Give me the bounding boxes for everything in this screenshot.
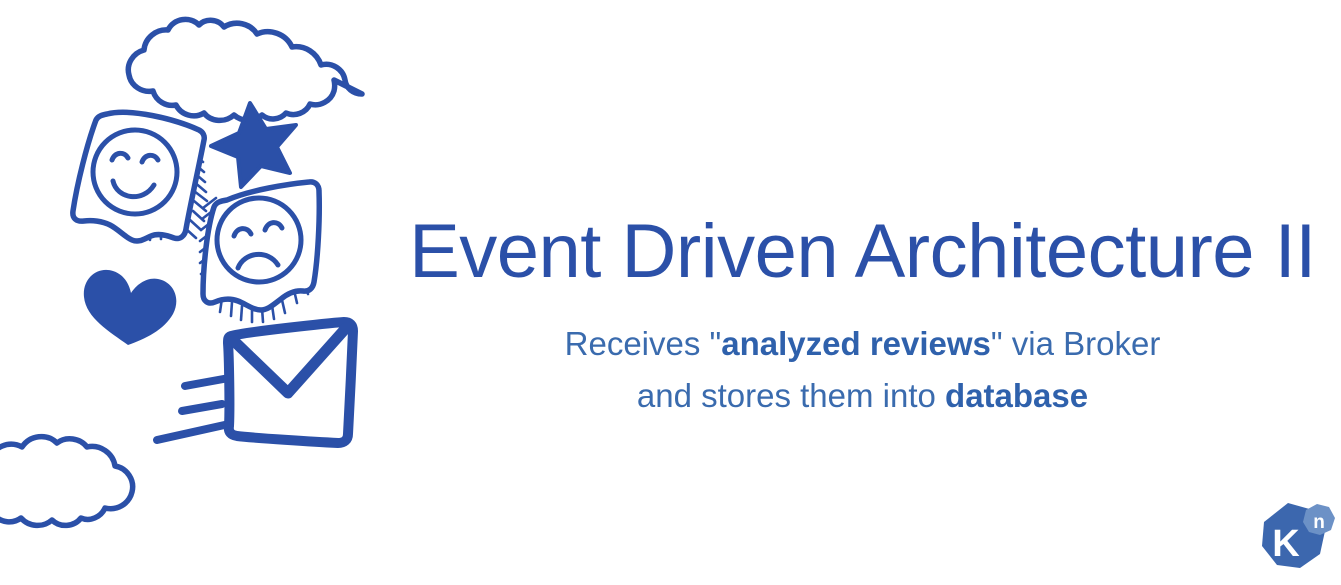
star-icon <box>211 103 296 187</box>
page-subtitle: Receives "analyzed reviews" via Broker a… <box>390 318 1335 422</box>
brand-logo: K n <box>1252 498 1338 578</box>
subtitle-line-2: and stores them into database <box>390 370 1335 422</box>
illustration-group <box>0 0 400 585</box>
slide-root: Event Driven Architecture II Receives "a… <box>0 0 1341 585</box>
sad-face-card-icon <box>200 182 319 322</box>
page-title: Event Driven Architecture II <box>390 212 1335 292</box>
happy-face-card-icon <box>73 112 207 241</box>
subtitle-line1-suffix: " via Broker <box>991 325 1160 362</box>
cloud-bottom-left-icon <box>0 437 133 526</box>
cloud-top-icon <box>128 19 362 120</box>
logo-letter: K <box>1272 523 1300 565</box>
heart-icon <box>84 270 177 345</box>
subtitle-line1-prefix: Receives " <box>565 325 722 362</box>
subtitle-line2-prefix: and stores them into <box>637 377 945 414</box>
subtitle-line-1: Receives "analyzed reviews" via Broker <box>390 318 1335 370</box>
subtitle-line2-strong: database <box>945 377 1088 414</box>
speed-lines-icon <box>157 378 229 440</box>
logo-badge-letter: n <box>1313 512 1325 533</box>
subtitle-line1-strong: analyzed reviews <box>721 325 991 362</box>
text-block: Event Driven Architecture II Receives "a… <box>390 212 1335 422</box>
envelope-icon <box>157 322 353 443</box>
